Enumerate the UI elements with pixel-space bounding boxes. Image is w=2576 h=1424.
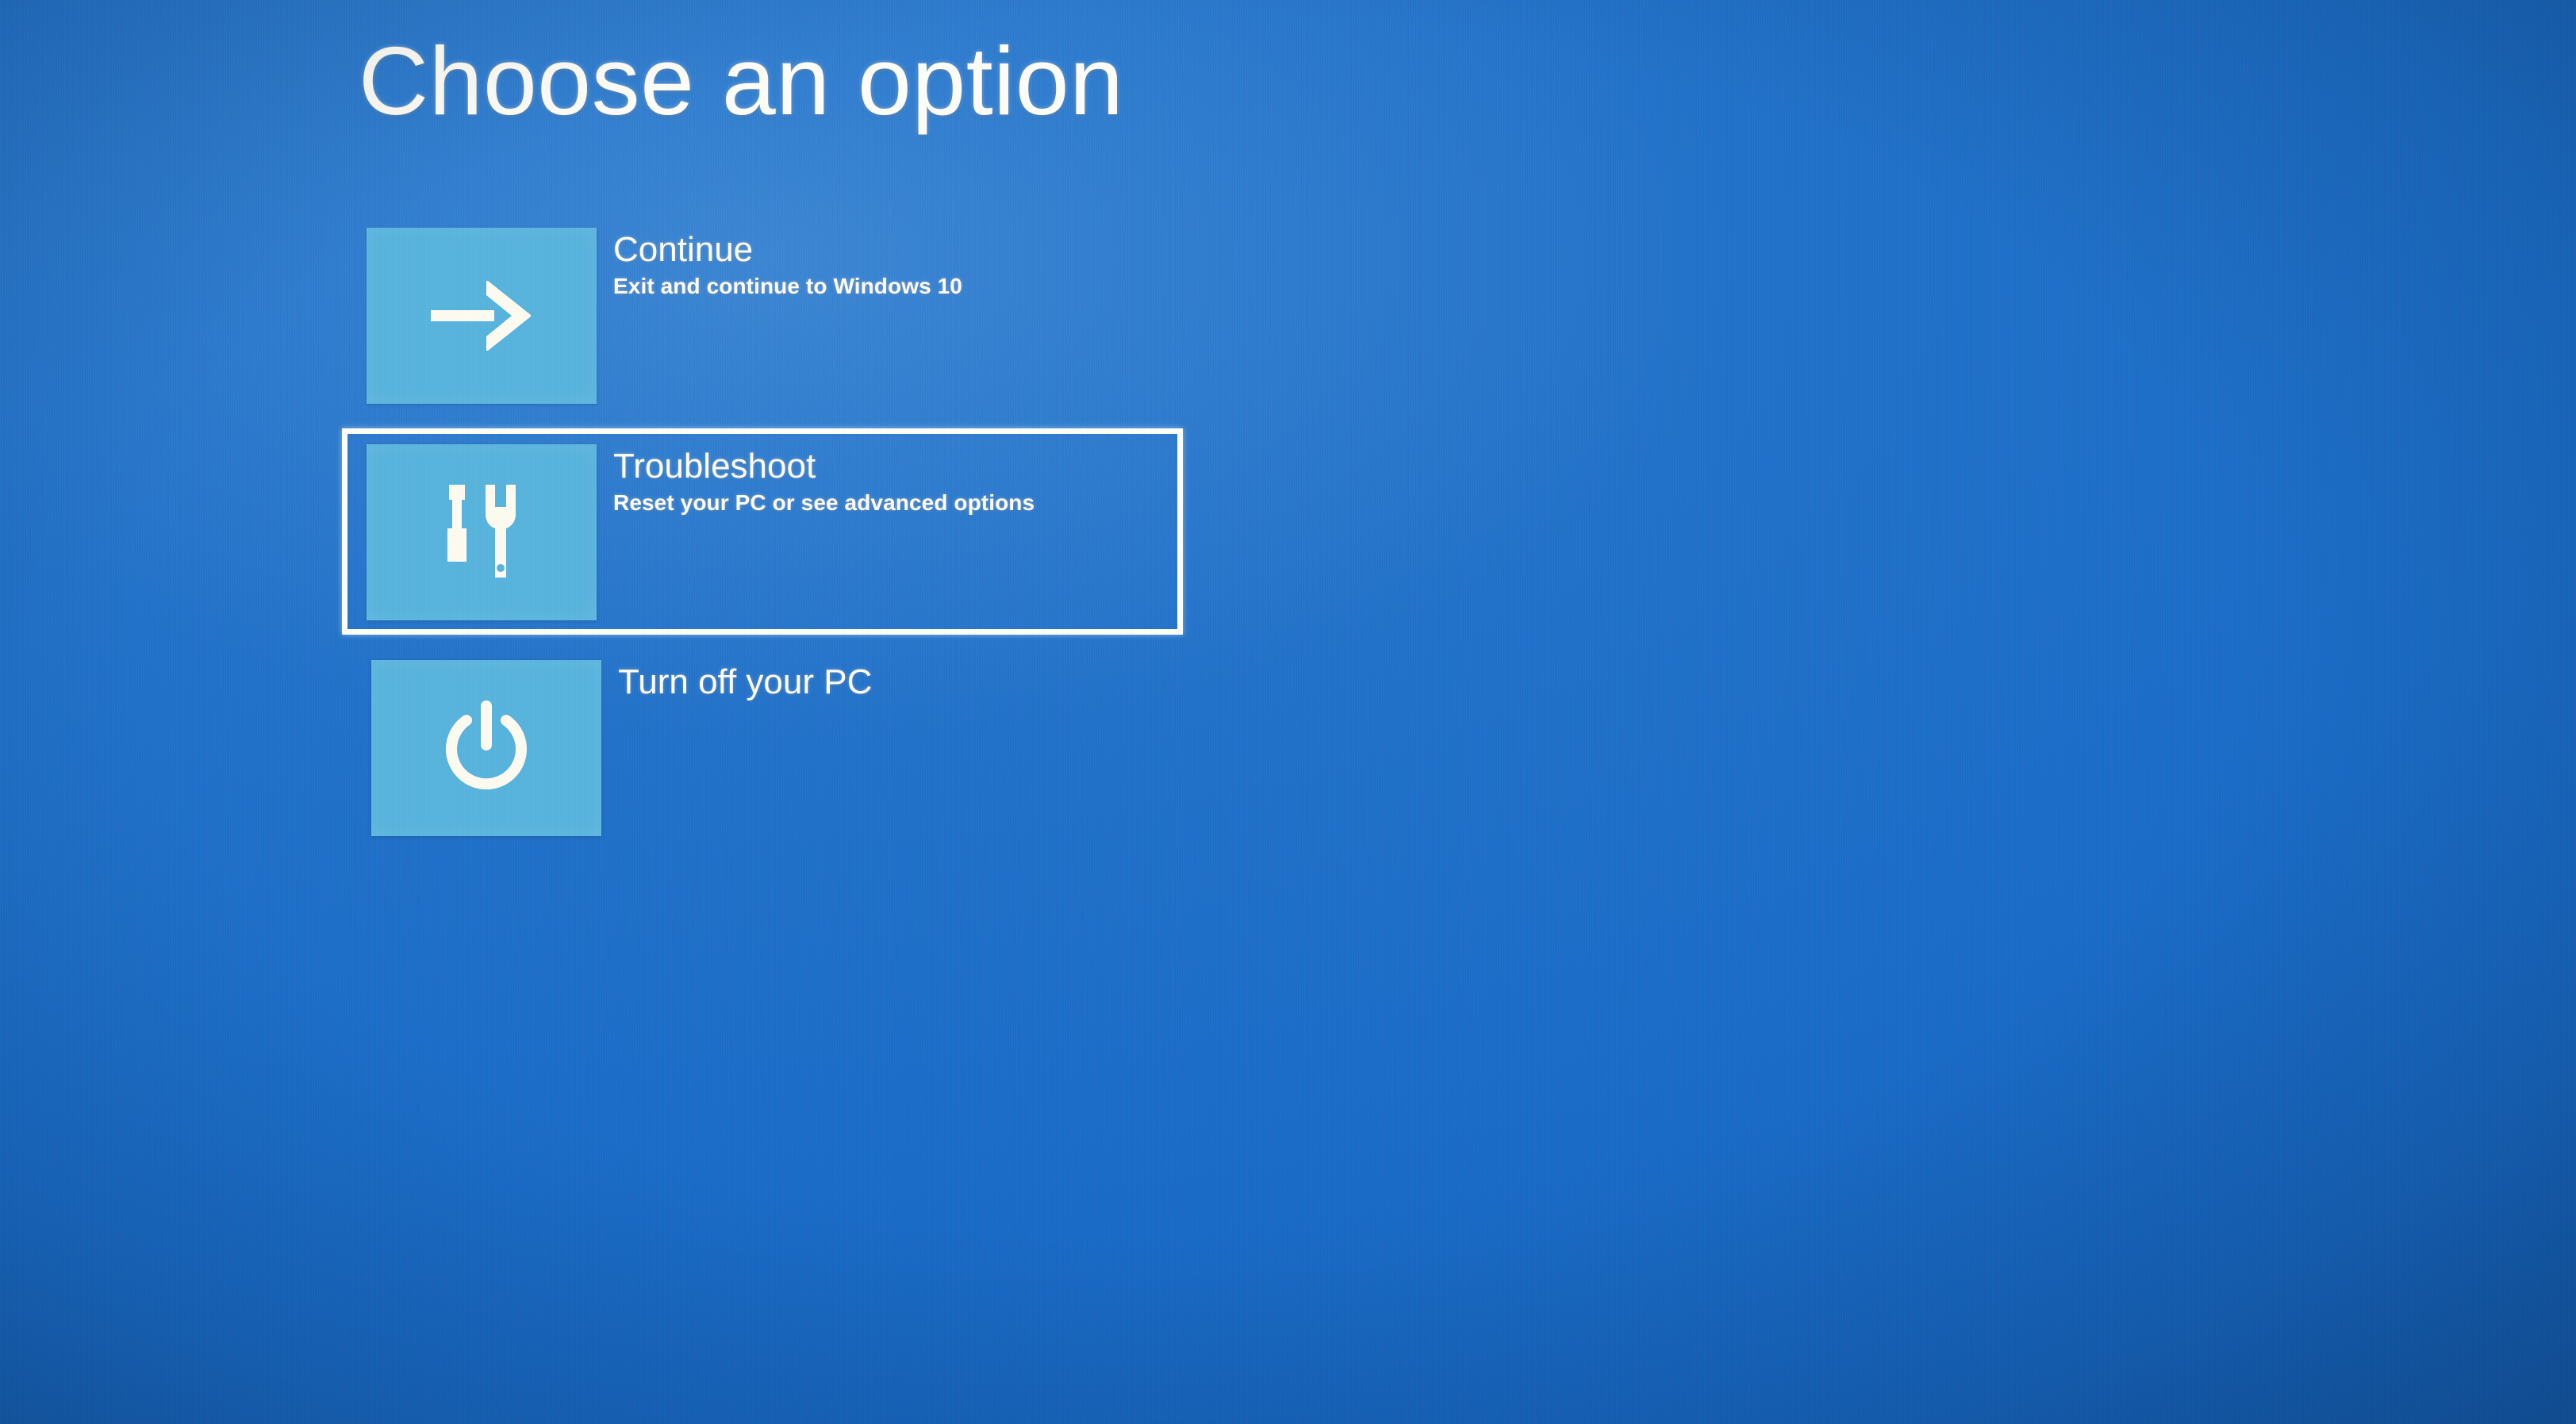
option-troubleshoot-subtitle: Reset your PC or see advanced options xyxy=(613,490,1035,516)
arrow-right-icon xyxy=(428,278,536,354)
option-continue-title: Continue xyxy=(613,232,962,268)
option-troubleshoot-tile[interactable] xyxy=(367,444,597,620)
option-continue-subtitle: Exit and continue to Windows 10 xyxy=(613,274,962,299)
power-icon xyxy=(439,700,534,796)
page-title: Choose an option xyxy=(359,25,1123,136)
option-continue[interactable]: Continue Exit and continue to Windows 10 xyxy=(367,228,962,404)
option-continue-text: Continue Exit and continue to Windows 10 xyxy=(613,228,962,299)
screwdriver-wrench-icon xyxy=(433,482,530,582)
option-turn-off-your-pc[interactable]: Turn off your PC xyxy=(371,660,872,836)
option-troubleshoot-title: Troubleshoot xyxy=(613,448,1035,485)
option-turn-off-your-pc-title: Turn off your PC xyxy=(618,664,872,700)
option-turn-off-your-pc-text: Turn off your PC xyxy=(618,660,872,700)
option-troubleshoot-text: Troubleshoot Reset your PC or see advanc… xyxy=(613,444,1035,516)
recovery-environment-screen: Choose an option Continue Exit and conti… xyxy=(0,0,2576,1424)
option-turn-off-your-pc-tile[interactable] xyxy=(371,660,601,836)
option-continue-tile[interactable] xyxy=(367,228,597,404)
option-troubleshoot[interactable]: Troubleshoot Reset your PC or see advanc… xyxy=(367,444,1035,620)
